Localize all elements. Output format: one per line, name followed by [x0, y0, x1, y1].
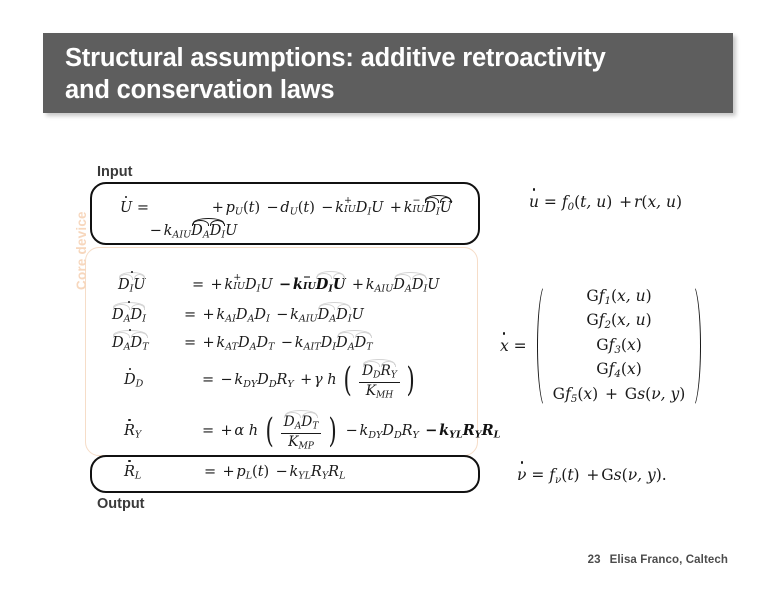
x-dot-lhs: x =: [500, 337, 527, 355]
core-equation-row: RY = +α h ( DADTKMP ) −kDYDDRY −kYLRYRL: [124, 411, 500, 451]
core-equation-row: DADT = +kATDADT −kAITDIDADT: [112, 331, 373, 353]
input-equation-line1: U = +pU(t) −dU(t) −k+IUDIU +k−IUDIU: [120, 196, 452, 218]
core-device-label: Core device: [74, 170, 89, 290]
input-label: Input: [97, 164, 132, 180]
abstract-equation-x-dot: x = Gf1(x, u) Gf2(x, u) Gf3(x) Gf4(x) Gf…: [500, 282, 703, 410]
core-eq5-lhs: RY: [124, 423, 186, 441]
matrix-row: Gf3(x): [596, 334, 642, 358]
matrix-right-paren: [691, 282, 703, 410]
output-equation-lhs: RL: [124, 464, 186, 482]
input-equation-line2: −kAIUDADIU: [148, 219, 237, 241]
matrix-row: Gf2(x, u): [586, 309, 651, 333]
abstract-equation-u-dot: u = f0(t, u) +r(x, u): [529, 193, 682, 213]
matrix-row: Gf5(x) + Gs(ν, y): [553, 383, 686, 407]
core-eq5-rhs: = +α h ( DADTKMP ) −kDYDDRY −kYLRYRL: [202, 411, 500, 451]
matrix-row: Gf1(x, u): [586, 285, 651, 309]
core-eq3-lhs: DADT: [112, 331, 174, 353]
input-equation-lhs: U =: [120, 200, 182, 216]
footer-author: Elisa Franco, Caltech: [610, 554, 728, 566]
input-equation-rhs-line1: +pU(t) −dU(t) −k+IUDIU +k−IUDIU: [210, 196, 452, 218]
core-eq2-rhs: = +kAIDADI −kAIUDADIU: [184, 303, 364, 325]
core-equation-row: DADI = +kAIDADI −kAIUDADIU: [112, 303, 364, 325]
x-dot-matrix: Gf1(x, u) Gf2(x, u) Gf3(x) Gf4(x) Gf5(x)…: [535, 282, 704, 410]
core-eq2-lhs: DADI: [112, 303, 174, 325]
matrix-left-paren: [535, 282, 547, 410]
abstract-equation-nu-dot: ν = fν(t) +Gs(ν, y).: [517, 466, 667, 486]
matrix-row: Gf4(x): [596, 358, 642, 382]
core-equation-row: DIU = +k+IUDIU −k−IUDIU +kAIUDADIU: [118, 272, 439, 295]
slide-footer: 23Elisa Franco, Caltech: [588, 554, 728, 566]
slide-title-bar: Structural assumptions: additive retroac…: [43, 33, 733, 113]
core-eq3-rhs: = +kATDADT −kAITDIDADT: [184, 331, 373, 353]
page-title: Structural assumptions: additive retroac…: [65, 42, 713, 106]
core-eq1-rhs: = +k+IUDIU −k−IUDIU +kAIUDADIU: [192, 272, 439, 295]
core-eq4-lhs: DD: [124, 372, 186, 390]
core-equation-row: DD = −kDYDDRY +γ h ( DDRYKMH ): [124, 360, 418, 400]
core-eq4-rhs: = −kDYDDRY +γ h ( DDRYKMH ): [202, 360, 418, 400]
page-number: 23: [588, 554, 601, 566]
output-equation-rhs: = +pL(t) −kYLRYRL: [204, 464, 345, 482]
core-eq1-lhs: DIU: [118, 273, 180, 295]
input-equation-rhs-line2: −kAIUDADIU: [148, 219, 237, 241]
output-equation-row: RL = +pL(t) −kYLRYRL: [124, 464, 345, 482]
output-label: Output: [97, 496, 145, 512]
